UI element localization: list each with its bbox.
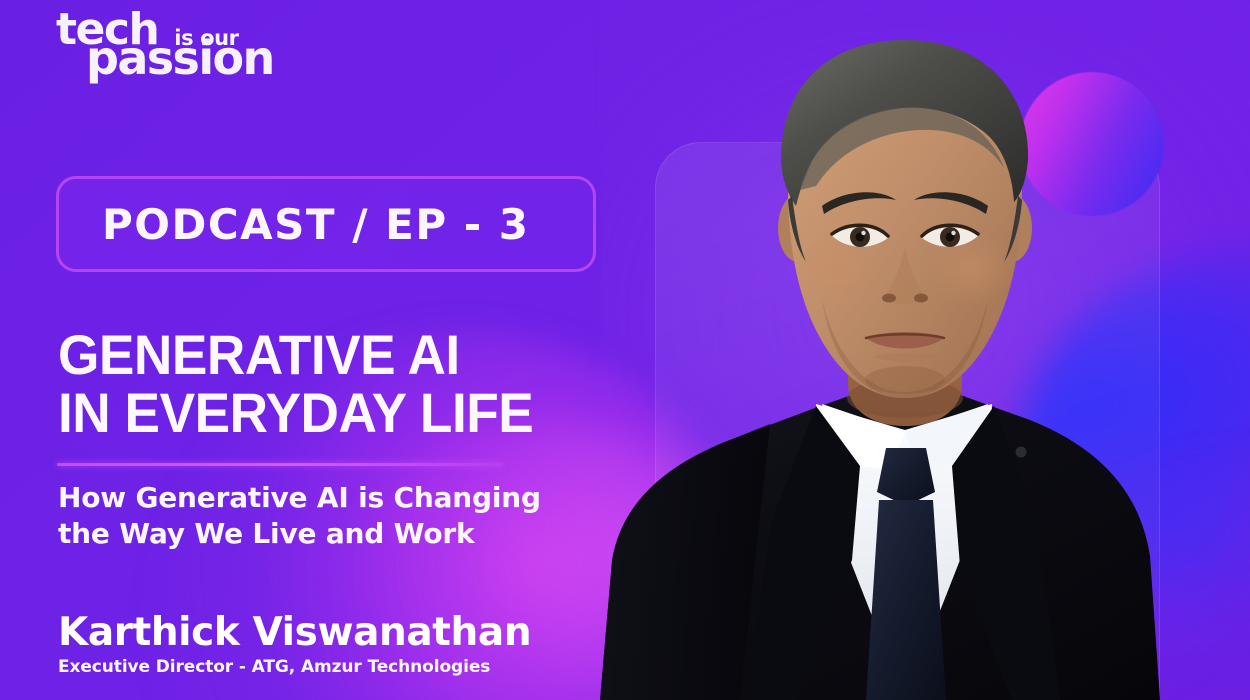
eye-highlight-right [951,231,955,235]
headline-line-2: IN EVERYDAY LIFE [58,384,533,442]
speaker-info: Karthick Viswanathan Executive Director … [58,612,531,677]
necktie-blade [866,500,946,700]
speaker-name: Karthick Viswanathan [58,612,531,654]
episode-badge-label: PODCAST / EP - 3 [59,200,530,249]
brand-logo[interactable]: tech is our passion [52,8,282,82]
episode-subtitle: How Generative AI is Changing the Way We… [58,480,541,553]
podcast-episode-cover: tech is our passion PODCAST / EP - 3 GEN… [0,0,1250,700]
speaker-role: Executive Director - ATG, Amzur Technolo… [58,657,531,677]
subtitle-line-1: How Generative AI is Changing [58,480,541,516]
suit-button [1016,447,1027,458]
episode-badge: PODCAST / EP - 3 [56,176,596,272]
suit-shoulder-left [600,424,770,700]
subtitle-line-2: the Way We Live and Work [58,516,541,552]
nostril-right [914,294,928,303]
logo-word-passion: passion [86,35,274,81]
eye-highlight-left [861,231,865,235]
headline-line-1: GENERATIVE AI [58,326,533,384]
title-divider [57,463,503,466]
nostril-left [882,294,896,303]
page-title: GENERATIVE AI IN EVERYDAY LIFE [58,326,533,442]
speaker-portrait-photo [560,0,1250,700]
